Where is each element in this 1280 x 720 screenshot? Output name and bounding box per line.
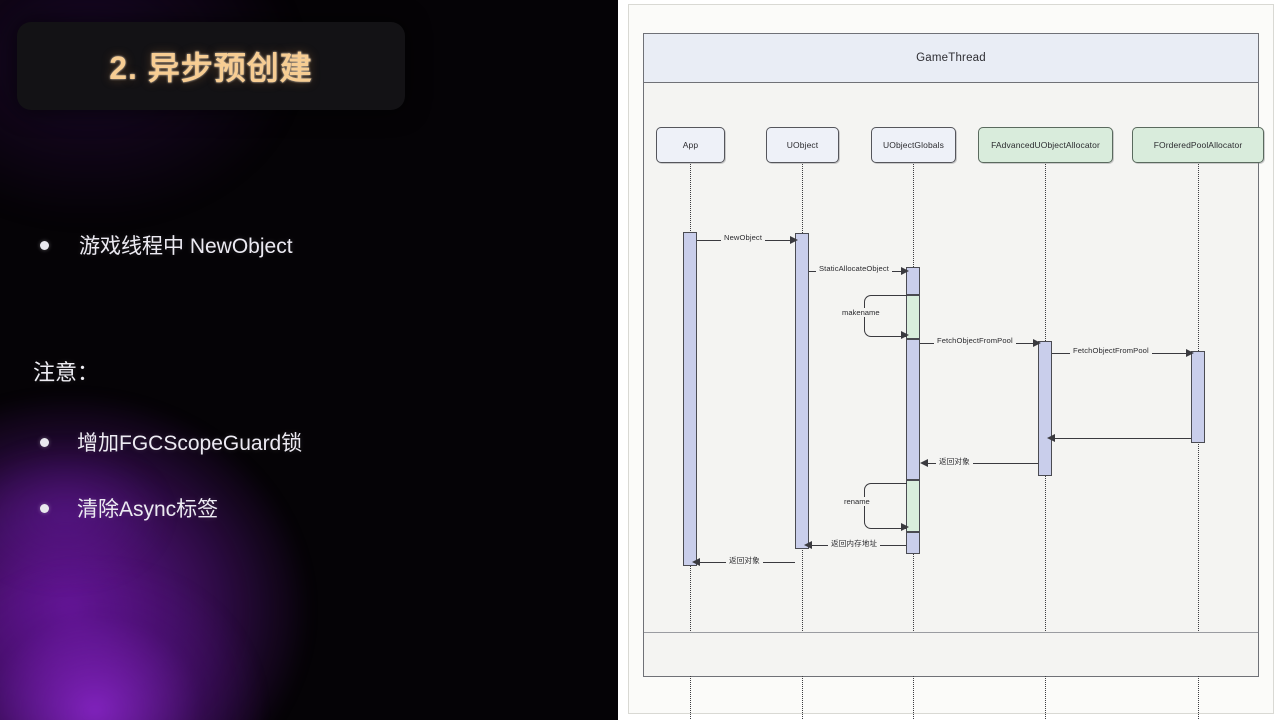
message-label-return-memory-address: 返回内存地址	[828, 538, 880, 549]
participant-forderedpoolallocator[interactable]: FOrderedPoolAllocator	[1132, 127, 1264, 163]
activation-fadvanceduobjectallocator	[1038, 341, 1052, 476]
participant-label: FAdvancedUObjectAllocator	[991, 140, 1100, 150]
message-arrowhead-fetchobjectfrompool-2	[1186, 349, 1194, 357]
sequence-diagram-body: App UObject UObjectGlobals FAdvancedUObj…	[644, 83, 1258, 678]
message-arrowhead-rename	[901, 523, 909, 531]
slide-title-badge: 2. 异步预创建	[17, 22, 405, 110]
participant-label: FOrderedPoolAllocator	[1154, 140, 1243, 150]
message-label-makename: makename	[840, 308, 882, 317]
message-label-return-object-globals: 返回对象	[936, 456, 973, 467]
sequence-diagram-panel: GameThread App UObject	[618, 0, 1280, 720]
list-item: 清除Async标签	[40, 493, 218, 523]
message-label-fetchobjectfrompool-2: FetchObjectFromPool	[1070, 346, 1152, 355]
frame-title-bar: GameThread	[644, 34, 1258, 83]
message-line-return-pool	[1052, 438, 1191, 439]
participant-uobject[interactable]: UObject	[766, 127, 839, 163]
message-label-return-object-app: 返回对象	[726, 555, 763, 566]
frame-title-label: GameThread	[916, 52, 986, 64]
bullet-dot-icon	[40, 504, 49, 513]
sequence-diagram-frame: GameThread App UObject	[643, 33, 1259, 677]
participant-label: App	[683, 140, 698, 150]
bullet-dot-icon	[40, 438, 49, 447]
message-arrowhead-newobject	[790, 236, 798, 244]
message-label-rename: rename	[842, 497, 872, 506]
note-heading: 注意：	[33, 355, 99, 387]
list-item: 游戏线程中 NewObject	[40, 230, 293, 260]
page-title: 2. 异步预创建	[109, 43, 313, 89]
participant-fadvanceduobjectallocator[interactable]: FAdvancedUObjectAllocator	[978, 127, 1113, 163]
bullet-dot-icon	[40, 241, 49, 250]
participant-label: UObject	[787, 140, 818, 150]
activation-uobjectglobals-2	[906, 339, 920, 480]
frame-footer	[644, 632, 1258, 676]
message-label-fetchobjectfrompool-1: FetchObjectFromPool	[934, 336, 1016, 345]
list-item-label: 增加FGCScopeGuard锁	[77, 427, 302, 457]
message-arrowhead-return-memory-address	[804, 541, 812, 549]
presentation-slide-left-panel: 2. 异步预创建 游戏线程中 NewObject 注意： 增加FGCScopeG…	[0, 0, 618, 720]
message-arrowhead-return-pool	[1047, 434, 1055, 442]
activation-uobject	[795, 233, 809, 549]
message-arrowhead-staticallocateobject	[901, 267, 909, 275]
message-label-newobject: NewObject	[721, 233, 765, 242]
activation-uobjectglobals-3	[906, 532, 920, 554]
message-label-staticallocateobject: StaticAllocateObject	[816, 264, 892, 273]
message-arrowhead-return-object-globals	[920, 459, 928, 467]
list-item-label: 游戏线程中 NewObject	[79, 230, 293, 260]
list-item: 增加FGCScopeGuard锁	[40, 427, 302, 457]
participant-uobjectglobals[interactable]: UObjectGlobals	[871, 127, 956, 163]
activation-forderedpoolallocator	[1191, 351, 1205, 443]
message-arrowhead-fetchobjectfrompool-1	[1033, 339, 1041, 347]
message-arrowhead-makename	[901, 331, 909, 339]
slide-screenshot: 2. 异步预创建 游戏线程中 NewObject 注意： 增加FGCScopeG…	[0, 0, 1280, 720]
activation-app	[683, 232, 697, 566]
participant-app[interactable]: App	[656, 127, 725, 163]
message-arrowhead-return-object-app	[692, 558, 700, 566]
participant-label: UObjectGlobals	[883, 140, 944, 150]
list-item-label: 清除Async标签	[77, 493, 218, 523]
diagram-canvas: GameThread App UObject	[628, 4, 1274, 714]
